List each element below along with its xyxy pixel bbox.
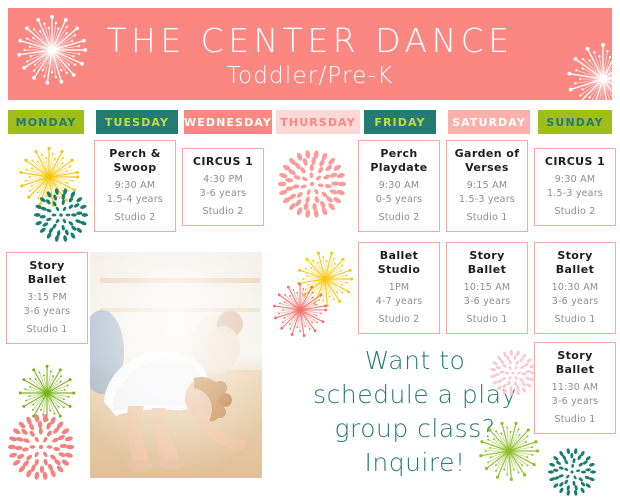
class-card[interactable]: Story Ballet3:15 PM3-6 yearsStudio 1 [6,252,88,344]
class-time: 10:15 AM [450,281,524,295]
class-time: 11:30 AM [538,381,612,395]
dahlia-flower-salmon-bottom-left [8,414,74,480]
class-card[interactable]: Story Ballet10:15 AM3-6 yearsStudio 1 [446,242,528,334]
class-time: 4:30 PM [186,173,260,187]
studio-photo [90,252,262,478]
class-title: Story Ballet [538,349,612,377]
starburst-flower-white-header-left [16,14,88,86]
class-title: Story Ballet [538,249,612,277]
day-header-friday: FRIDAY [364,110,436,134]
class-studio: Studio 1 [10,323,84,337]
class-studio: Studio 2 [362,211,436,225]
class-card[interactable]: Ballet Studio1PM4-7 yearsStudio 2 [358,242,440,334]
class-card[interactable]: CIRCUS 19:30 AM1.5-3 yearsStudio 2 [534,148,616,226]
page-subtitle: Toddler/Pre-K [8,62,612,90]
class-time: 1PM [362,281,436,295]
column-sunday: CIRCUS 19:30 AM1.5-3 yearsStudio 2Story … [534,140,620,480]
class-time: 3:15 PM [10,291,84,305]
class-title: Story Ballet [450,249,524,277]
class-studio: Studio 2 [538,205,612,219]
class-title: CIRCUS 1 [538,155,612,169]
header-banner: THE CENTER DANCE Toddler/Pre-K [8,8,612,100]
day-header-monday: MONDAY [8,110,84,134]
class-title: Perch Playdate [362,147,436,175]
class-card[interactable]: CIRCUS 14:30 PM3-6 yearsStudio 2 [182,148,264,226]
class-title: Story Ballet [10,259,84,287]
class-ages: 3-6 years [450,295,524,309]
class-time: 9:30 AM [98,179,172,193]
day-header-saturday: SATURDAY [448,110,530,134]
class-studio: Studio 1 [450,211,524,225]
starburst-flower-green-bottom-right [478,420,540,482]
starburst-flower-white-header-right [566,42,612,100]
class-ages: 1.5-3 years [450,193,524,207]
class-title: Garden of Verses [450,147,524,175]
page-title: THE CENTER DANCE [8,22,612,60]
class-studio: Studio 1 [538,413,612,427]
class-studio: Studio 1 [450,313,524,327]
day-header-sunday: SUNDAY [538,110,612,134]
class-title: CIRCUS 1 [186,155,260,169]
class-ages: 4-7 years [362,295,436,309]
class-studio: Studio 2 [98,211,172,225]
class-ages: 3-6 years [538,395,612,409]
schedule-poster: THE CENTER DANCE Toddler/Pre-K MONDAYTUE… [0,0,620,500]
day-header-thursday: THURSDAY [276,110,360,134]
class-card[interactable]: Story Ballet11:30 AM3-6 yearsStudio 1 [534,342,616,434]
class-title: Perch & Swoop [98,147,172,175]
class-card[interactable]: Perch & Swoop9:30 AM1.5-4 yearsStudio 2 [94,140,176,232]
class-studio: Studio 2 [186,205,260,219]
class-card[interactable]: Story Ballet10:30 AM3-6 yearsStudio 1 [534,242,616,334]
class-ages: 3-6 years [10,305,84,319]
dahlia-flower-teal-bottom-right [548,448,596,496]
class-studio: Studio 1 [538,313,612,327]
dahlia-flower-teal-monday [34,188,88,242]
class-title: Ballet Studio [362,249,436,277]
class-ages: 3-6 years [538,295,612,309]
day-header-wednesday: WEDNESDAY [184,110,272,134]
class-ages: 1.5-4 years [98,193,172,207]
day-header-tuesday: TUESDAY [96,110,178,134]
day-header-bar: MONDAYTUESDAYWEDNESDAYTHURSDAYFRIDAYSATU… [0,110,620,134]
class-time: 9:15 AM [450,179,524,193]
class-time: 9:30 AM [538,173,612,187]
class-time: 9:30 AM [362,179,436,193]
dahlia-flower-pink-promo [490,350,536,396]
class-ages: 1.5-3 years [538,187,612,201]
class-card[interactable]: Garden of Verses9:15 AM1.5-3 yearsStudio… [446,140,528,232]
starburst-flower-pink-thursday [272,282,328,338]
dahlia-flower-pink-thursday [278,150,346,218]
class-studio: Studio 2 [362,313,436,327]
class-ages: 3-6 years [186,187,260,201]
class-time: 10:30 AM [538,281,612,295]
class-card[interactable]: Perch Playdate9:30 AM0-5 yearsStudio 2 [358,140,440,232]
class-ages: 0-5 years [362,193,436,207]
